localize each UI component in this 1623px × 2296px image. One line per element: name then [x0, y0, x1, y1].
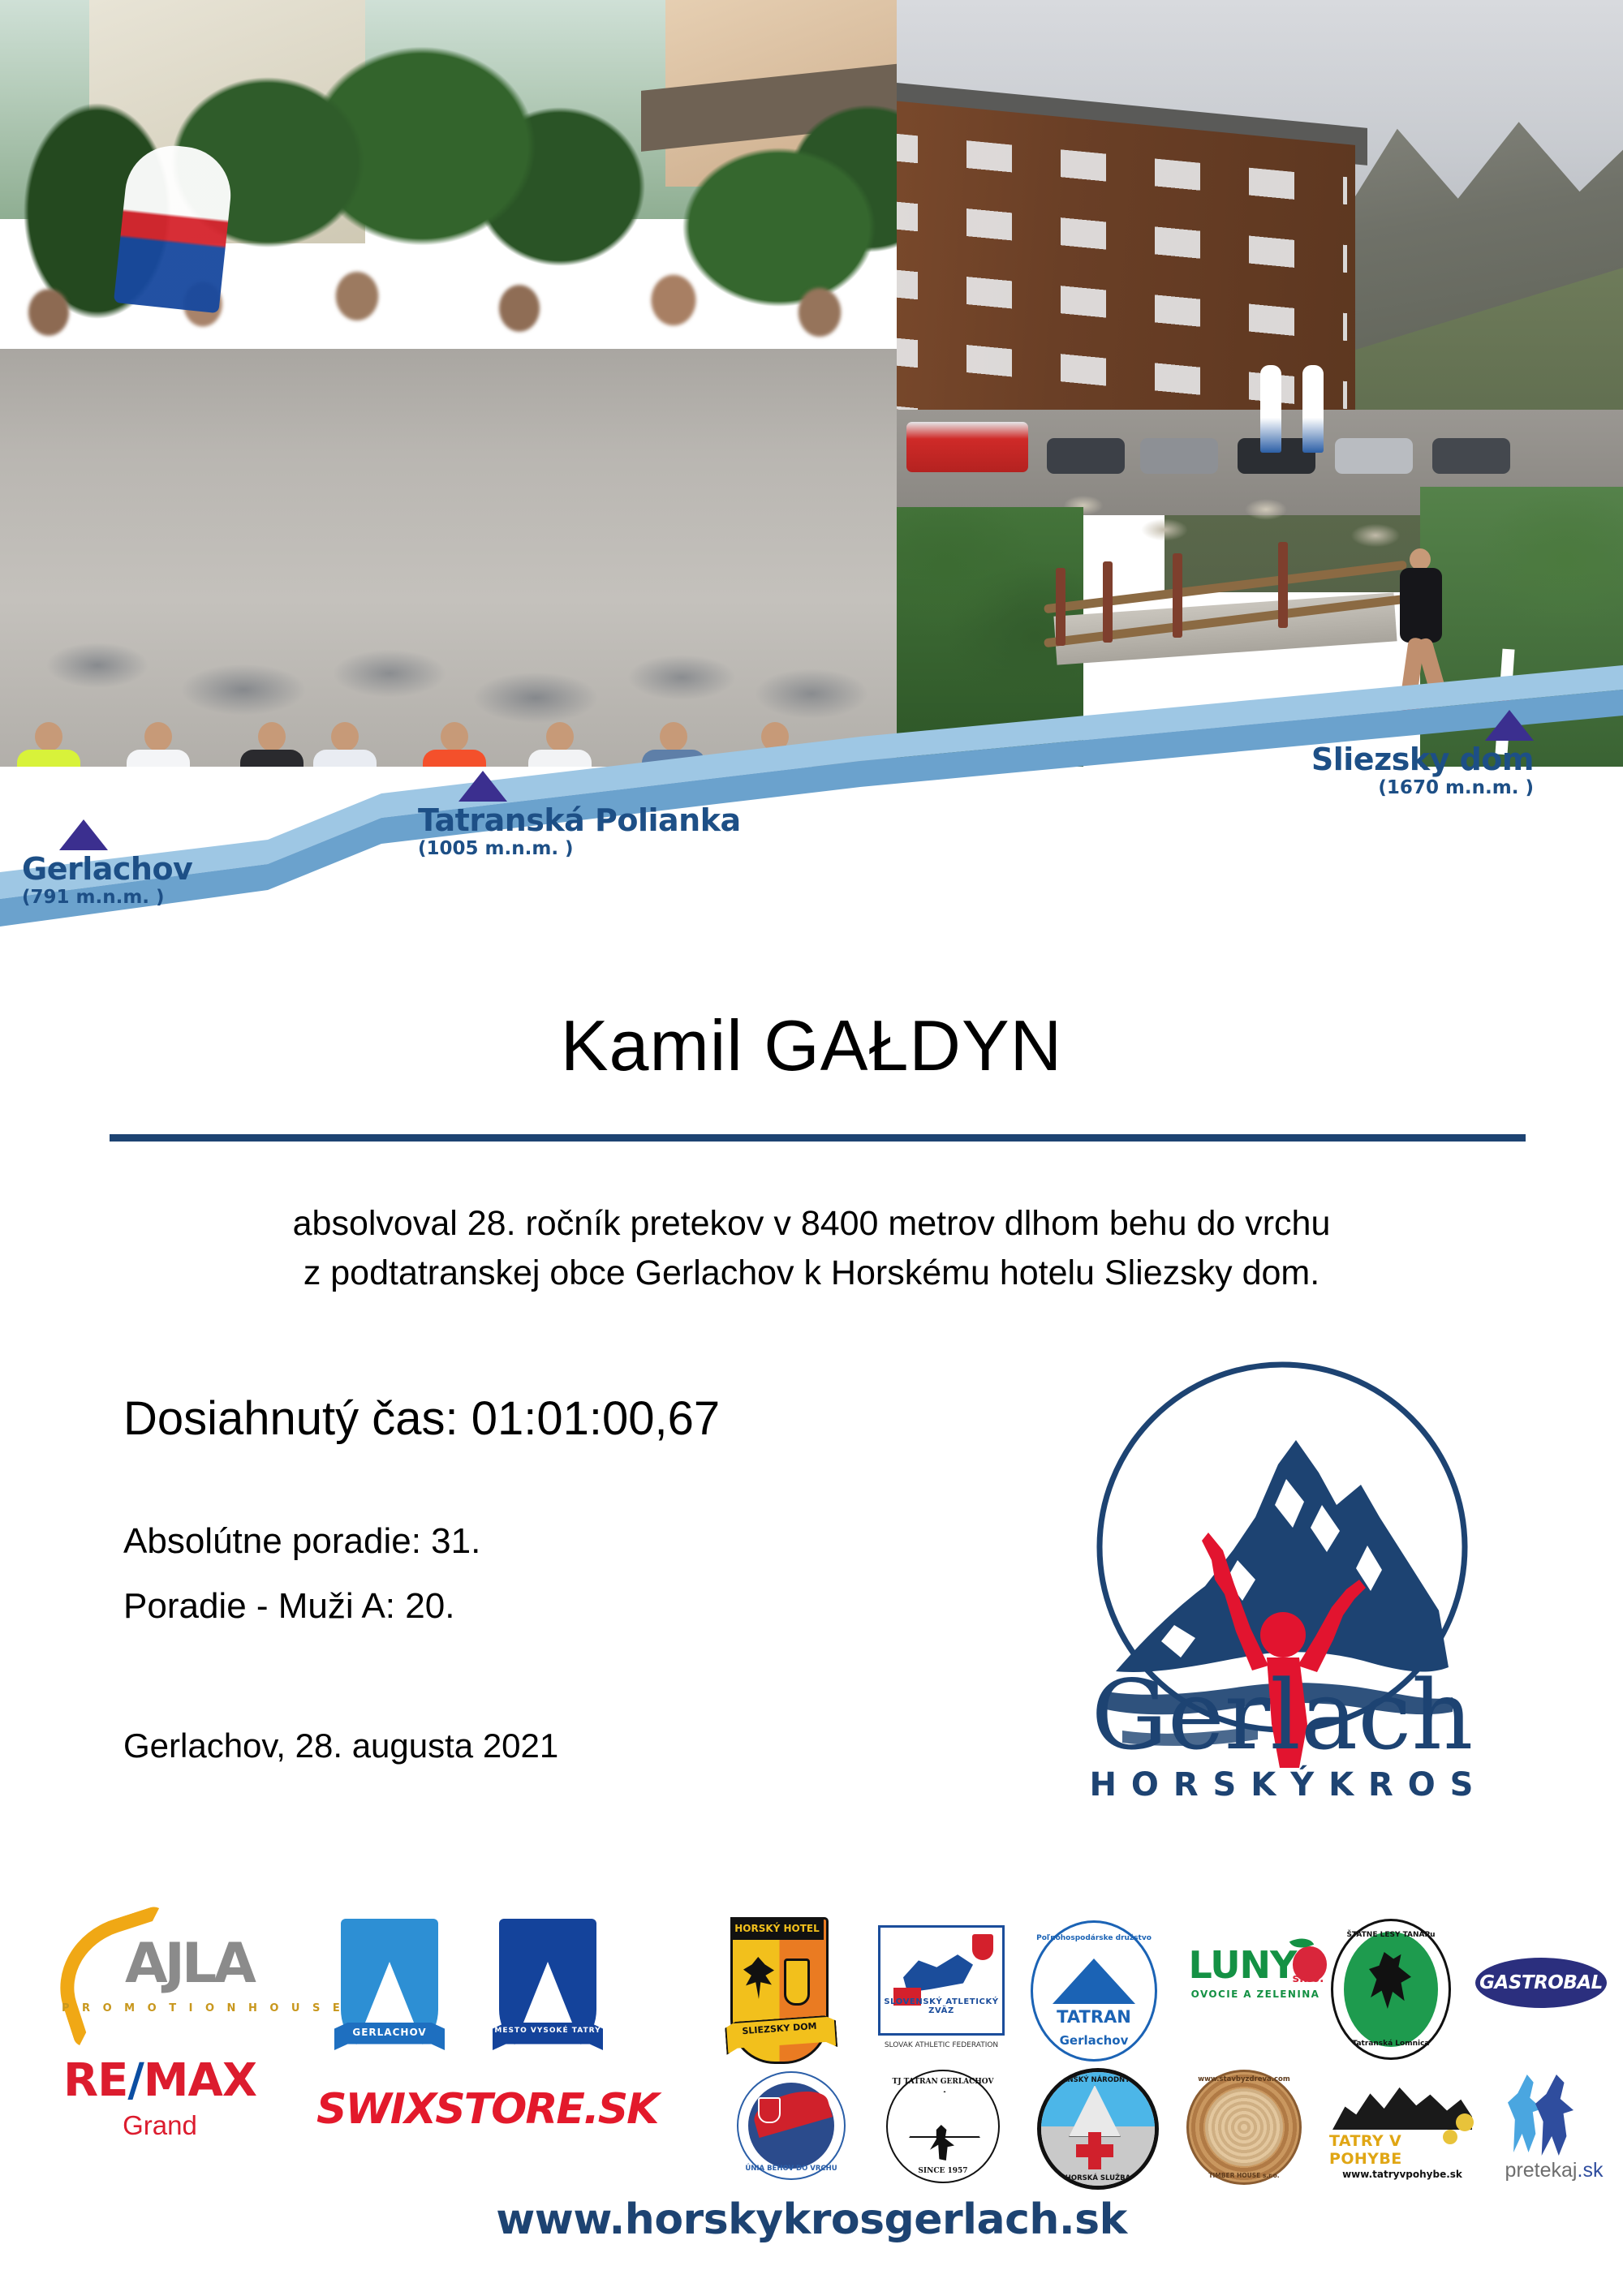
gerlach-event-logo: Gerlach H O R S K Ý K R O S: [1043, 1343, 1522, 1829]
sponsor-gastrobal: GASTROBAL: [1475, 1958, 1607, 2008]
lunys-suffix: s.r.o.: [1293, 1972, 1324, 1985]
runner-head: [331, 722, 359, 751]
triangle-marker-icon: [59, 819, 108, 850]
slovak-emblem-icon: [758, 2097, 781, 2123]
rank-category: Poradie - Muži A: 20.: [123, 1586, 454, 1627]
unia-badge-icon: ÚNIA BEHOV DO VRCHU: [737, 2071, 846, 2180]
runner-head: [441, 722, 468, 751]
place-and-date: Gerlachov, 28. augusta 2021: [123, 1726, 558, 1765]
sliezsky-dom-photo: [897, 0, 1623, 767]
finishing-runner-shoe: [1401, 704, 1421, 716]
sponsor-stavbyzdreva: www.stavbyzdreva.com TIMBER HOUSE s.r.o.: [1186, 2070, 1302, 2185]
event-beach-flag: [1260, 365, 1281, 453]
runner-head: [660, 722, 687, 751]
sliezsky-dom-shield-icon: HORSKÝ HOTEL SLIEZSKY DOM: [730, 1917, 829, 2064]
sponsor-unia-behov: ÚNIA BEHOV DO VRCHU: [737, 2071, 846, 2180]
tanap-badge-icon: ŠTÁTNE LESY TANAPu Tatranská Lomnica: [1331, 1919, 1451, 2060]
runner-silhouette-icon: [1508, 2075, 1543, 2152]
tanap-top-label: ŠTÁTNE LESY TANAPu: [1333, 1931, 1449, 1939]
runner-name: Kamil GAŁDYN: [0, 1004, 1623, 1087]
railing-post: [1103, 561, 1113, 643]
runner-torso: [17, 750, 80, 767]
description-line-1: absolvoval 28. ročník pretekov v 8400 me…: [0, 1199, 1623, 1249]
sponsor-tatry-v-pohybe: TATRY V POHYBE www.tatryvpohybe.sk: [1329, 2079, 1475, 2180]
pretekaj-name: pretekaj: [1505, 2159, 1578, 2182]
sponsor-lunys: LUNYS s.r.o. OVOCIE A ZELENINA: [1178, 1943, 1332, 2000]
railing-post: [1056, 568, 1065, 646]
logo-tagline: H O R S K Ý K R O S: [1090, 1764, 1475, 1804]
wood-rings: [1205, 2088, 1283, 2166]
marker-gerlachov: Gerlachov (791 m.n.m. ): [45, 819, 192, 907]
parked-car: [1140, 438, 1218, 474]
hs-bottom-label: HORSKÁ SLUŽBA: [1041, 2174, 1155, 2182]
pretekaj-wordmark: pretekaj.sk: [1493, 2159, 1615, 2182]
marker-label: Gerlachov: [22, 853, 192, 886]
sliezsky-top-label: HORSKÝ HOTEL: [730, 1917, 824, 1940]
runner-torso: [423, 750, 486, 767]
sponsor-tanap: ŠTÁTNE LESY TANAPu Tatranská Lomnica: [1331, 1919, 1451, 2060]
sponsor-tatran-gerlachov: Poľnohospodárske družstvo TATRAN Gerlach…: [1031, 1920, 1157, 2062]
result-time: Dosiahnutý čas: 01:01:00,67: [123, 1391, 720, 1446]
sponsor-sliezsky-dom: HORSKÝ HOTEL SLIEZSKY DOM: [730, 1917, 829, 2064]
runner-head: [35, 722, 62, 751]
road-surface: [0, 349, 897, 767]
vysoke-tatry-shield-icon: MESTO VYSOKÉ TATRY: [499, 1919, 596, 2077]
sponsor-slovak-athletics: SLOVENSKÝ ATLETICKÝ ZVÄZ SLOVAK ATHLETIC…: [878, 1925, 1005, 2036]
horska-sluzba-badge-icon: TATRANSKÝ NÁRODNÝ PARK HORSKÁ SLUŽBA: [1037, 2068, 1159, 2190]
remax-wordmark: RE/MAX: [63, 2058, 256, 2104]
parked-car: [1432, 438, 1510, 474]
runner-silhouette-icon: [1535, 2075, 1574, 2156]
tanap-bottom-label: Tatranská Lomnica: [1333, 2040, 1449, 2048]
stavby-top-label: www.stavbyzdreva.com: [1189, 2075, 1299, 2083]
tatran-top-label: Poľnohospodárske družstvo: [1033, 1934, 1155, 1942]
rescue-van: [906, 422, 1028, 472]
tvp-url: www.tatryvpohybe.sk: [1342, 2169, 1462, 2180]
mountain-silhouette-icon: [1332, 2079, 1472, 2130]
sponsor-horska-sluzba: TATRANSKÝ NÁRODNÝ PARK HORSKÁ SLUŽBA: [1037, 2068, 1159, 2190]
tj-top-label: TJ TATRAN GERLACHOV: [888, 2078, 998, 2086]
finishing-runner-head: [1410, 548, 1431, 570]
hs-top-label: TATRANSKÝ NÁRODNÝ PARK: [1041, 2076, 1155, 2084]
vegetation-right: [1420, 487, 1623, 767]
gastrobal-badge-icon: GASTROBAL: [1475, 1958, 1607, 2008]
stavby-bottom-label: TIMBER HOUSE s.r.o.: [1189, 2172, 1299, 2179]
marker-label: Tatranská Polianka: [418, 805, 741, 837]
runner-torso: [743, 750, 807, 767]
timber-badge-icon: www.stavbyzdreva.com TIMBER HOUSE s.r.o.: [1186, 2070, 1302, 2185]
runner-torso: [528, 750, 592, 767]
sponsor-remax: RE/MAX Grand: [50, 2058, 269, 2141]
gerlachov-shield-icon: GERLACHOV: [341, 1919, 438, 2077]
sponsor-ajla: AJLA P R O M O T I O N H O U S E: [50, 1919, 269, 2024]
marker-altitude: (1670 m.n.m. ): [1297, 778, 1534, 798]
parked-car: [1047, 438, 1125, 474]
swixstore-wordmark: SWIXSTORE.SK: [316, 2085, 657, 2134]
eagle-icon: [743, 1957, 774, 1999]
runner-torso: [313, 750, 377, 767]
shield-label: MESTO VYSOKÉ TATRY: [493, 2027, 603, 2035]
unia-label: ÚNIA BEHOV DO VRCHU: [738, 2165, 844, 2173]
tj-bottom-label: SINCE 1957: [888, 2167, 998, 2175]
logo-wordmark: Gerlach: [1091, 1659, 1474, 1771]
lunys-tagline: OVOCIE A ZELENINA: [1191, 1989, 1320, 2000]
mountain-icon: [1053, 1958, 1135, 2004]
runner-torso: [127, 750, 190, 767]
sponsor-pretekaj: pretekaj.sk: [1493, 2075, 1615, 2188]
shield-label: GERLACHOV: [334, 2027, 445, 2038]
certificate-description: absolvoval 28. ročník pretekov v 8400 me…: [0, 1199, 1623, 1298]
marker-altitude: (1005 m.n.m. ): [418, 839, 741, 858]
ajla-tagline: P R O M O T I O N H O U S E: [62, 2002, 344, 2014]
remax-sub: Grand: [123, 2110, 197, 2141]
race-start-photo: 2 1 5: [0, 0, 897, 767]
gastrobal-wordmark: GASTROBAL: [1479, 1972, 1603, 1993]
photo-banner: 2 1 5: [0, 0, 1623, 767]
rank-absolute: Absolútne poradie: 31.: [123, 1521, 480, 1562]
description-line-2: z podtatranskej obce Gerlachov k Horském…: [0, 1249, 1623, 1298]
pretekaj-tld: .sk: [1578, 2159, 1604, 2182]
slovak-emblem-icon: [972, 1934, 993, 1960]
event-beach-flag: [1302, 365, 1324, 453]
parked-car: [1335, 438, 1413, 474]
ajla-wordmark: AJLA: [125, 1932, 253, 1996]
marker-altitude: (791 m.n.m. ): [22, 888, 192, 907]
saz-logo-icon: SLOVENSKÝ ATLETICKÝ ZVÄZ SLOVAK ATHLETIC…: [878, 1925, 1005, 2036]
event-website-url[interactable]: www.horskykrosgerlach.sk: [0, 2195, 1623, 2244]
tatran-label: TATRAN: [1033, 2007, 1155, 2027]
runner-head: [546, 722, 574, 751]
runner-torso: [240, 750, 304, 767]
sponsor-vysoke-tatry-coa: MESTO VYSOKÉ TATRY: [499, 1919, 596, 2077]
sponsor-gerlachov-coa: GERLACHOV: [341, 1919, 438, 2077]
sponsor-tj-tatran-gerlachov: TJ TATRAN GERLACHOV SINCE 1957: [886, 2070, 1000, 2183]
saz-sublabel: SLOVAK ATHLETIC FEDERATION: [880, 2041, 1002, 2049]
runner-head: [761, 722, 789, 751]
title-divider: [110, 1134, 1526, 1142]
triangle-marker-icon: [458, 771, 507, 802]
railing-post: [1278, 542, 1288, 628]
edelweiss-icon: [1456, 2113, 1474, 2131]
finishing-runner-torso: [1400, 568, 1442, 643]
tatran-bottom-label: Gerlachov: [1033, 2033, 1155, 2048]
edelweiss-icon: [1443, 2130, 1457, 2144]
red-cross-icon-bar: [1076, 2144, 1113, 2157]
sponsor-strip: AJLA P R O M O T I O N H O U S E RE/MAX …: [0, 1911, 1623, 2178]
runner-head: [144, 722, 172, 751]
saz-label: SLOVENSKÝ ATLETICKÝ ZVÄZ: [880, 1997, 1002, 2015]
railing-post: [1173, 553, 1182, 638]
marker-tatranska-polianka: Tatranská Polianka (1005 m.n.m. ): [458, 771, 741, 858]
finishing-runner-shoe: [1419, 693, 1439, 704]
tj-badge-icon: TJ TATRAN GERLACHOV SINCE 1957: [886, 2070, 1000, 2183]
tatran-badge-icon: Poľnohospodárske družstvo TATRAN Gerlach…: [1031, 1920, 1157, 2062]
sponsor-swixstore: SWIXSTORE.SK: [316, 2085, 657, 2134]
chalice-icon: [784, 1958, 810, 2006]
runner-head: [258, 722, 286, 751]
runner-torso: [642, 750, 705, 767]
